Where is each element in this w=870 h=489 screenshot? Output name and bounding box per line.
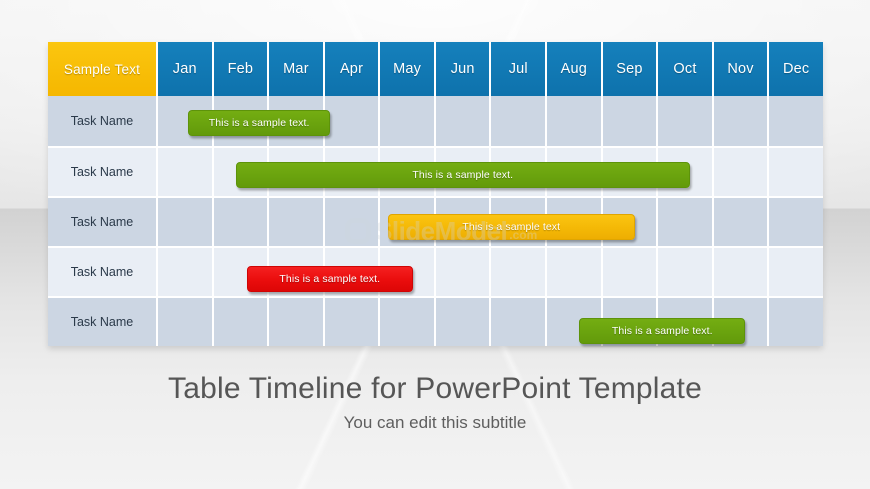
page-title: Table Timeline for PowerPoint Template	[0, 372, 870, 405]
header-cell-month-sep[interactable]: Sep	[603, 42, 659, 96]
row-label-task-name[interactable]: Task Name	[48, 96, 158, 146]
header-cell-month-jul[interactable]: Jul	[491, 42, 547, 96]
grid-cell-jan[interactable]	[158, 248, 214, 296]
header-cell-month-apr[interactable]: Apr	[325, 42, 381, 96]
gantt-bar-row-1[interactable]: This is a sample text.	[188, 110, 329, 136]
grid-cell-apr[interactable]	[325, 96, 381, 146]
grid-cell-nov[interactable]	[714, 198, 770, 246]
row-label-task-name[interactable]: Task Name	[48, 198, 158, 246]
grid-cell-oct[interactable]	[658, 96, 714, 146]
row-label-task-name[interactable]: Task Name	[48, 248, 158, 296]
header-cell-month-jun[interactable]: Jun	[436, 42, 492, 96]
header-cell-month-feb[interactable]: Feb	[214, 42, 270, 96]
table-row: Task Name	[48, 246, 823, 296]
gantt-bar-row-4[interactable]: This is a sample text.	[247, 266, 413, 292]
grid-cell-jul[interactable]	[491, 298, 547, 346]
grid-cell-dec[interactable]	[769, 248, 823, 296]
header-cell-month-aug[interactable]: Aug	[547, 42, 603, 96]
header-cell-month-may[interactable]: May	[380, 42, 436, 96]
grid-cell-oct[interactable]	[658, 198, 714, 246]
grid-cell-jan[interactable]	[158, 148, 214, 196]
grid-cell-feb[interactable]	[214, 298, 270, 346]
grid-cell-jun[interactable]	[436, 298, 492, 346]
header-cell-month-jan[interactable]: Jan	[158, 42, 214, 96]
table-row: Task Name	[48, 96, 823, 146]
grid-cell-dec[interactable]	[769, 96, 823, 146]
grid-cell-dec[interactable]	[769, 148, 823, 196]
grid-cell-aug[interactable]	[547, 248, 603, 296]
table-header-row: Sample Text JanFebMarAprMayJunJulAugSepO…	[48, 42, 823, 96]
grid-cell-sep[interactable]	[603, 96, 659, 146]
gantt-bar-row-2[interactable]: This is a sample text.	[236, 162, 690, 188]
grid-cell-mar[interactable]	[269, 198, 325, 246]
grid-cell-mar[interactable]	[269, 298, 325, 346]
row-label-task-name[interactable]: Task Name	[48, 148, 158, 196]
row-label-task-name[interactable]: Task Name	[48, 298, 158, 346]
grid-cell-jul[interactable]	[491, 248, 547, 296]
header-cell-month-dec[interactable]: Dec	[769, 42, 823, 96]
timeline-table: Sample Text JanFebMarAprMayJunJulAugSepO…	[48, 42, 823, 346]
grid-cell-may[interactable]	[380, 298, 436, 346]
header-cell-sample-text[interactable]: Sample Text	[48, 42, 158, 96]
grid-cell-aug[interactable]	[547, 96, 603, 146]
grid-cell-nov[interactable]	[714, 148, 770, 196]
caption-block: Table Timeline for PowerPoint Template Y…	[0, 372, 870, 433]
grid-cell-nov[interactable]	[714, 248, 770, 296]
grid-cell-apr[interactable]	[325, 198, 381, 246]
gantt-bar-row-3[interactable]: This is a sample text	[388, 214, 635, 240]
page-subtitle: You can edit this subtitle	[0, 413, 870, 433]
grid-cell-dec[interactable]	[769, 198, 823, 246]
grid-cell-oct[interactable]	[658, 248, 714, 296]
header-cell-month-nov[interactable]: Nov	[714, 42, 770, 96]
grid-cell-dec[interactable]	[769, 298, 823, 346]
header-cell-month-mar[interactable]: Mar	[269, 42, 325, 96]
gantt-bar-row-5[interactable]: This is a sample text.	[579, 318, 745, 344]
grid-cell-jun[interactable]	[436, 248, 492, 296]
grid-cell-feb[interactable]	[214, 198, 270, 246]
slide-canvas: Sample Text JanFebMarAprMayJunJulAugSepO…	[0, 0, 870, 489]
grid-cell-sep[interactable]	[603, 248, 659, 296]
header-cell-month-oct[interactable]: Oct	[658, 42, 714, 96]
grid-cell-jun[interactable]	[436, 96, 492, 146]
grid-cell-jul[interactable]	[491, 96, 547, 146]
grid-cell-jan[interactable]	[158, 298, 214, 346]
grid-cell-jan[interactable]	[158, 198, 214, 246]
grid-cell-apr[interactable]	[325, 298, 381, 346]
grid-cell-may[interactable]	[380, 96, 436, 146]
grid-cell-nov[interactable]	[714, 96, 770, 146]
